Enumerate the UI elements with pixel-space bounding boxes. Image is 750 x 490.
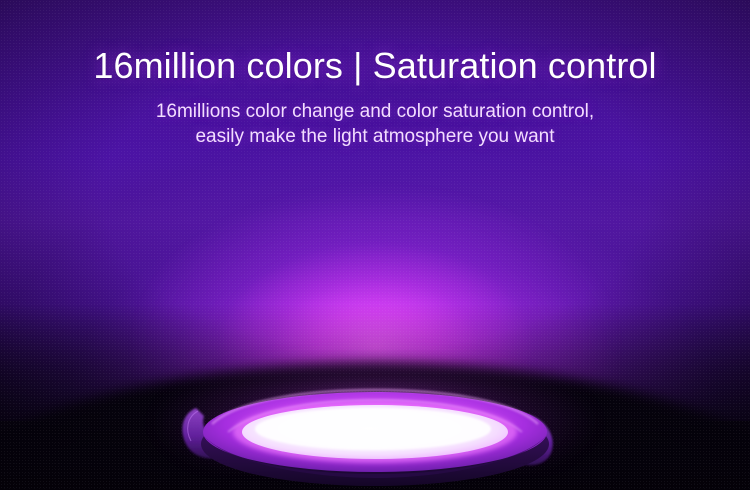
banner-headline: 16million colors | Saturation control: [0, 44, 750, 88]
led-downlight-fixture: [170, 384, 580, 490]
downlight-illustration: [170, 384, 580, 490]
product-banner: 16million colors | Saturation control 16…: [0, 0, 750, 490]
banner-subtitle-line-2: easily make the light atmosphere you wan…: [0, 124, 750, 149]
diffuser-hotspot: [255, 408, 491, 450]
banner-copy: 16million colors | Saturation control 16…: [0, 44, 750, 149]
banner-subtitle-line-1: 16millions color change and color satura…: [0, 99, 750, 124]
banner-subtitle: 16millions color change and color satura…: [0, 99, 750, 149]
